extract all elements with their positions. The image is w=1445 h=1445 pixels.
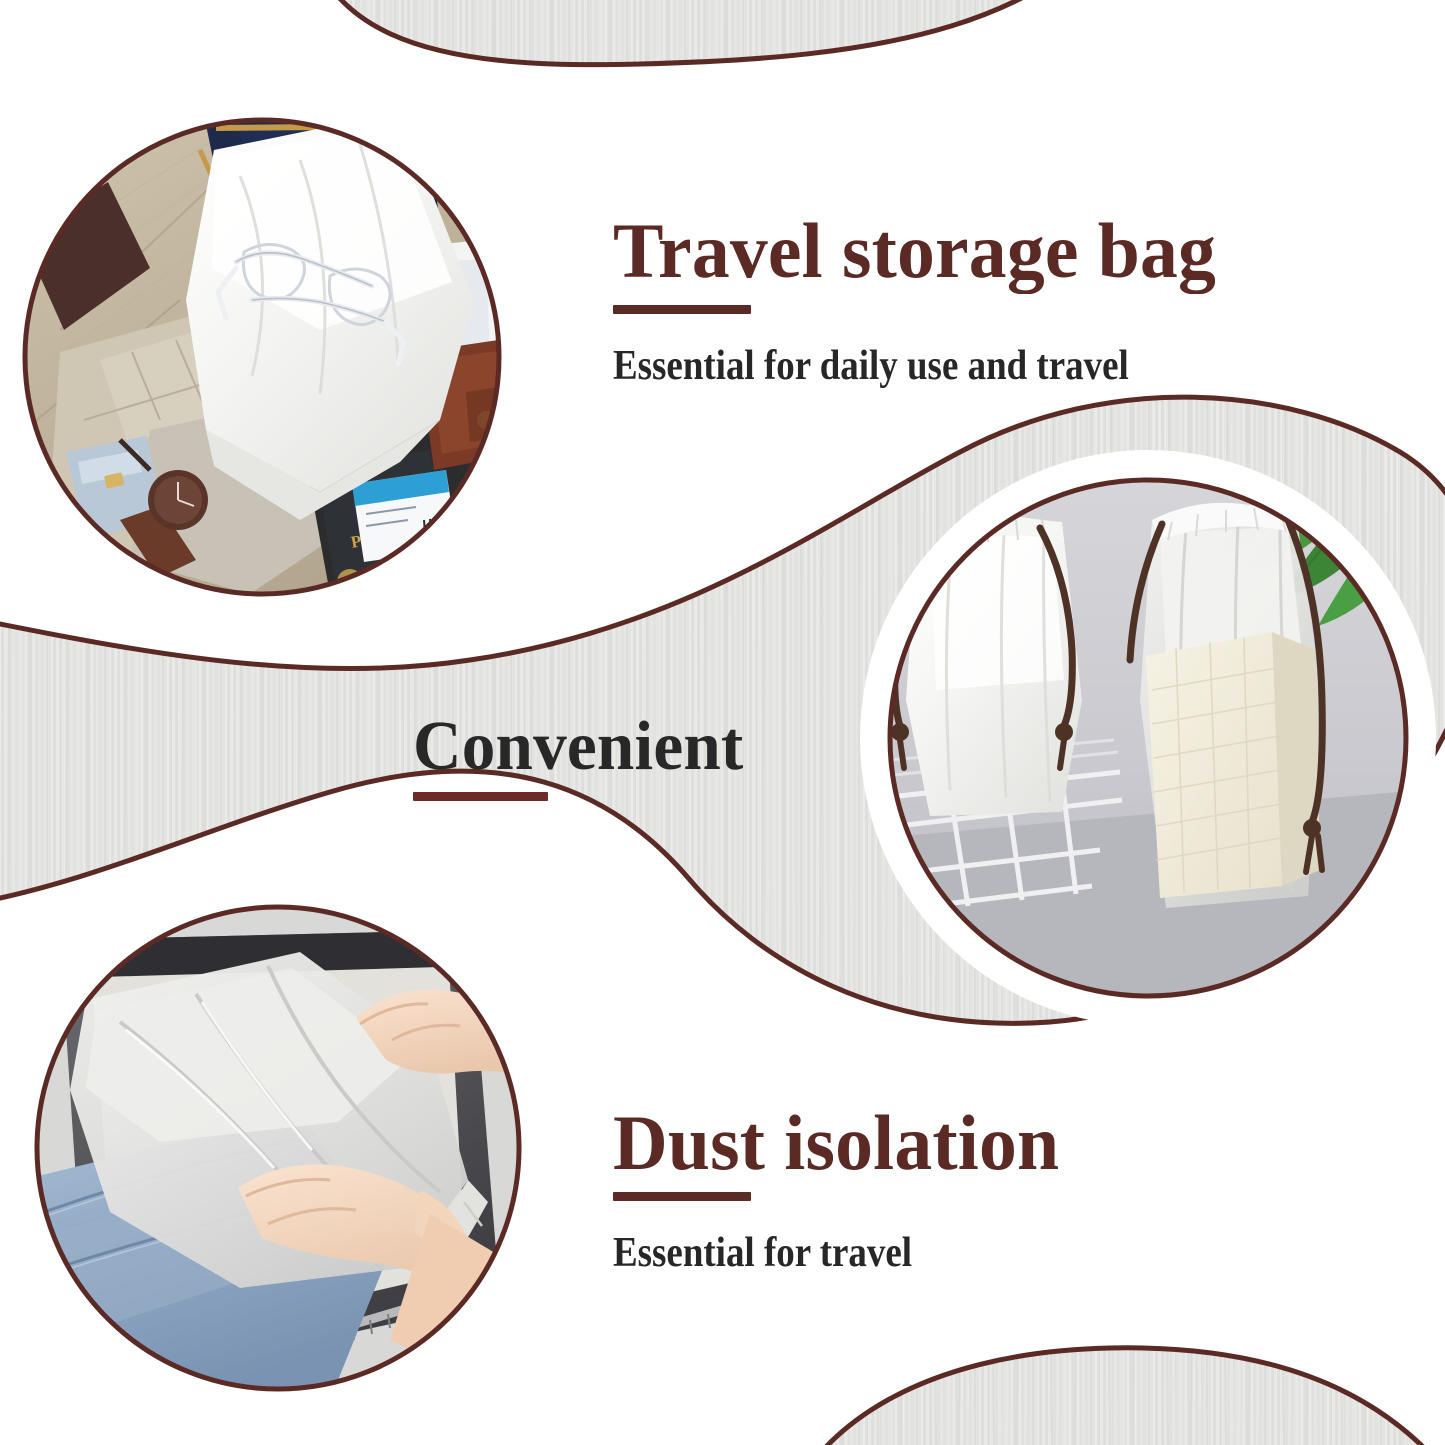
infographic-canvas: PASSPORT (0, 0, 1445, 1445)
rule-under-heading-2 (413, 792, 548, 801)
heading-convenient: Convenient (413, 712, 743, 782)
subtitle-dust-isolation: Essential for travel (613, 1232, 912, 1274)
heading-travel-storage-bag: Travel storage bag (613, 212, 1216, 290)
photo-suitcase-packing (30, 900, 540, 1400)
heading-dust-isolation: Dust isolation (613, 1104, 1059, 1182)
rule-under-heading-1 (613, 305, 751, 314)
photo-two-bags (880, 470, 1420, 1010)
rule-under-heading-3 (613, 1192, 751, 1201)
subtitle-travel-storage-bag: Essential for daily use and travel (613, 345, 1129, 387)
